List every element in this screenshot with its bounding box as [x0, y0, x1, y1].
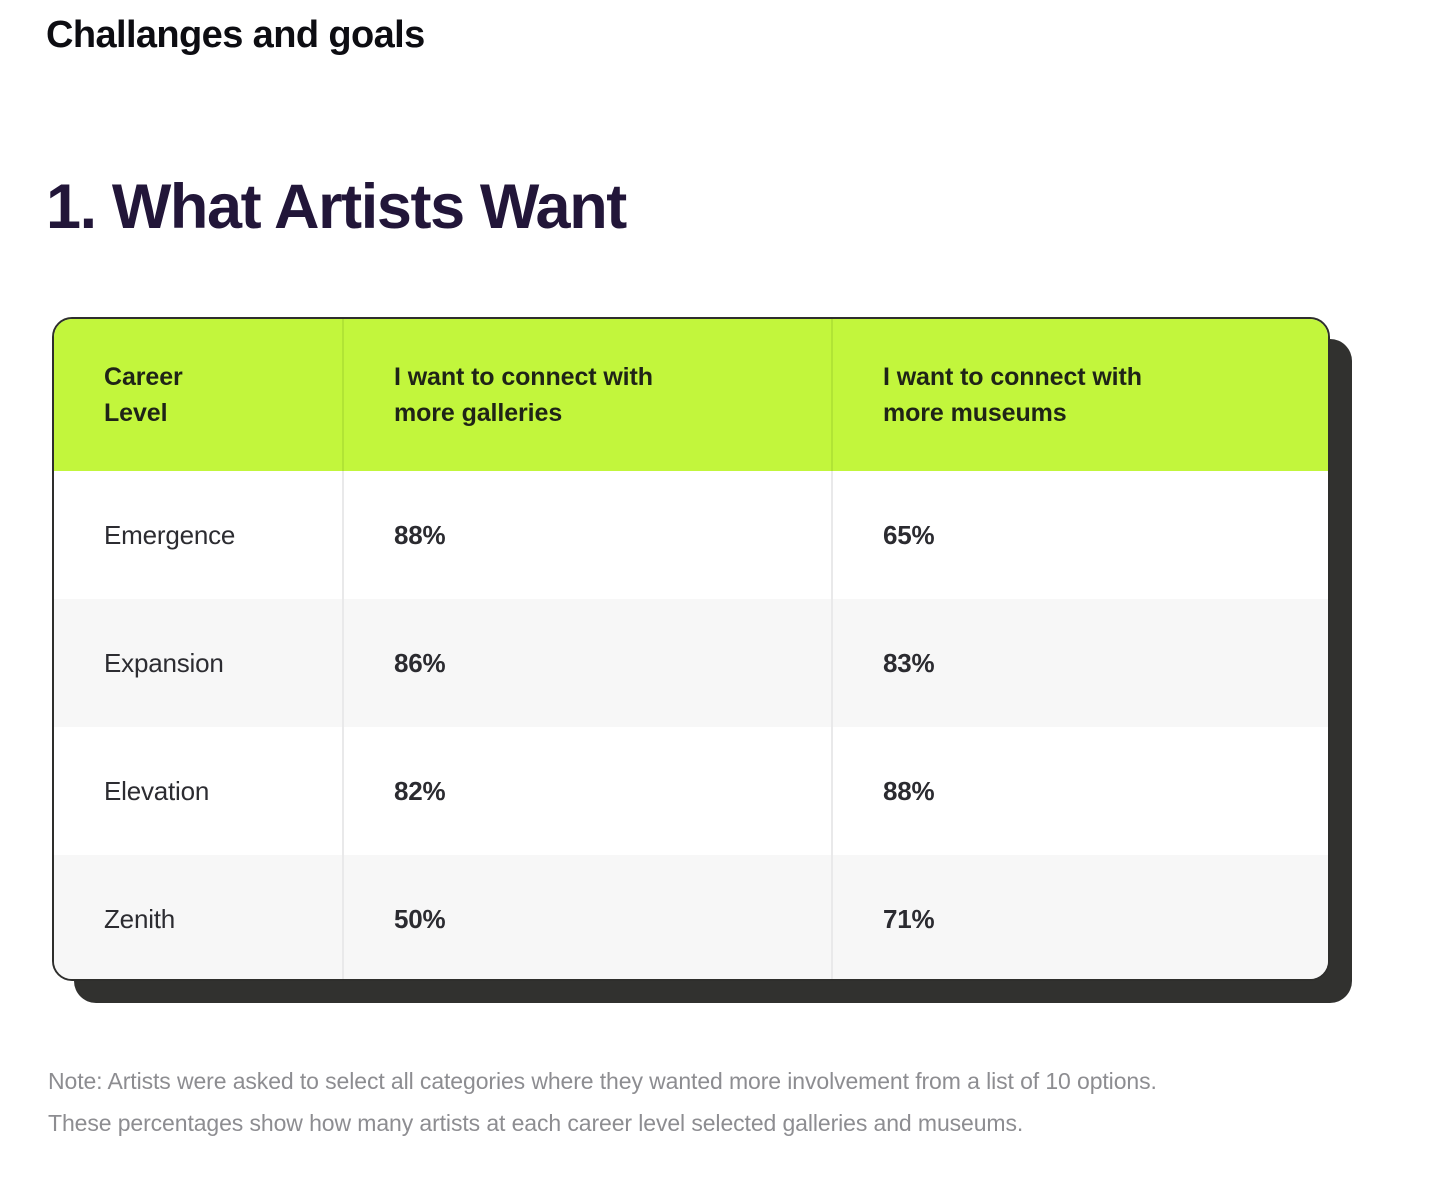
page-title: 1. What Artists Want [46, 173, 626, 242]
column-header-galleries-line2: more galleries [394, 395, 831, 432]
artists-wants-table: Career Level I want to connect with more… [54, 319, 1328, 981]
cell-career-level: Elevation [54, 727, 343, 855]
page-root: Challanges and goals 1. What Artists Wan… [0, 0, 1446, 1194]
cell-museums-pct: 71% [832, 855, 1328, 981]
card-surface: Career Level I want to connect with more… [52, 317, 1330, 981]
table-footnote: Note: Artists were asked to select all c… [48, 1060, 1388, 1144]
cell-museums-pct: 88% [832, 727, 1328, 855]
cell-galleries-pct: 82% [343, 727, 832, 855]
table-header: Career Level I want to connect with more… [54, 319, 1328, 471]
table-header-row: Career Level I want to connect with more… [54, 319, 1328, 471]
column-header-galleries-line1: I want to connect with [394, 359, 831, 396]
cell-career-level: Expansion [54, 599, 343, 727]
column-header-museums: I want to connect with more museums [832, 319, 1328, 471]
section-eyebrow: Challanges and goals [46, 14, 425, 58]
column-header-career-level-line2: Level [104, 395, 342, 432]
cell-galleries-pct: 86% [343, 599, 832, 727]
stats-card: Career Level I want to connect with more… [52, 317, 1352, 1003]
column-header-career-level: Career Level [54, 319, 343, 471]
cell-museums-pct: 83% [832, 599, 1328, 727]
column-header-museums-line1: I want to connect with [883, 359, 1328, 396]
table-row: Expansion 86% 83% [54, 599, 1328, 727]
table-row: Emergence 88% 65% [54, 471, 1328, 599]
table-row: Zenith 50% 71% [54, 855, 1328, 981]
cell-career-level: Zenith [54, 855, 343, 981]
cell-galleries-pct: 88% [343, 471, 832, 599]
table-body: Emergence 88% 65% Expansion 86% 83% Elev… [54, 471, 1328, 981]
column-header-galleries: I want to connect with more galleries [343, 319, 832, 471]
footnote-line-2: These percentages show how many artists … [48, 1102, 1388, 1144]
table-row: Elevation 82% 88% [54, 727, 1328, 855]
column-header-career-level-line1: Career [104, 359, 342, 396]
column-header-museums-line2: more museums [883, 395, 1328, 432]
footnote-line-1: Note: Artists were asked to select all c… [48, 1060, 1388, 1102]
cell-career-level: Emergence [54, 471, 343, 599]
cell-galleries-pct: 50% [343, 855, 832, 981]
cell-museums-pct: 65% [832, 471, 1328, 599]
